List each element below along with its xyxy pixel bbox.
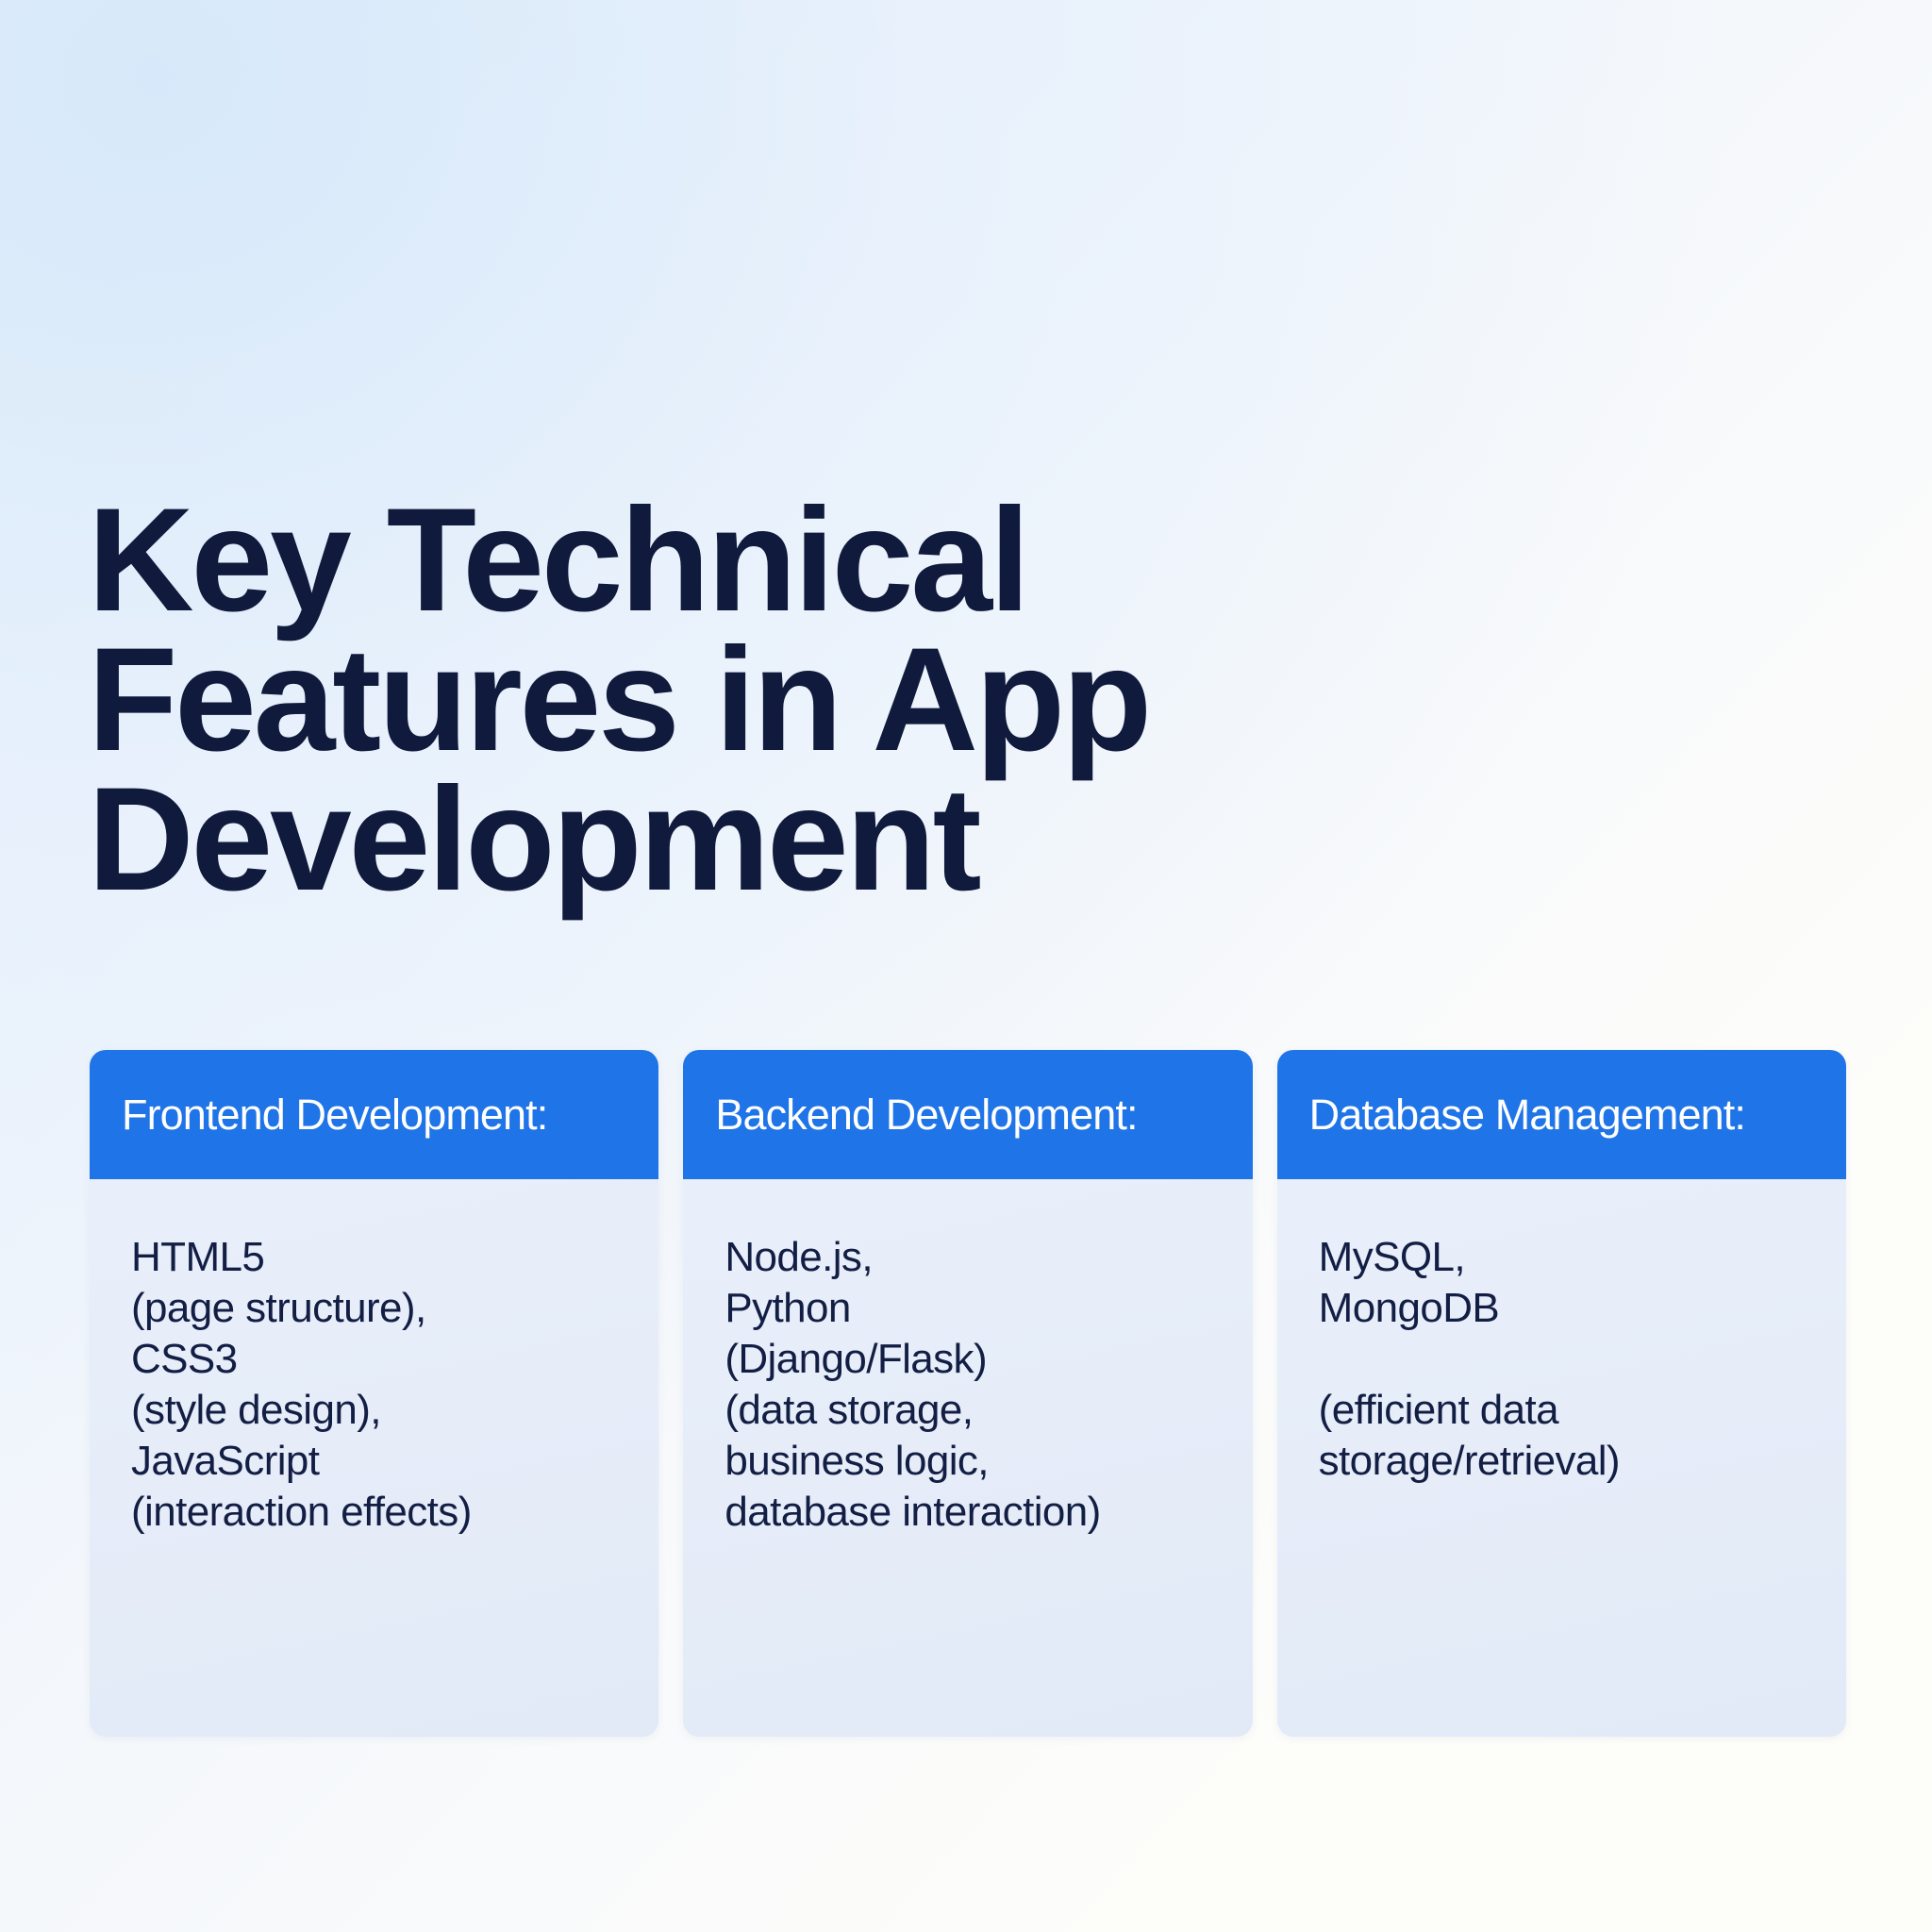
- card-frontend-header: Frontend Development:: [90, 1050, 658, 1179]
- card-database-management: Database Management: MySQL, MongoDB (eff…: [1277, 1050, 1846, 1737]
- card-backend-header: Backend Development:: [683, 1050, 1252, 1179]
- slide-canvas: Key Technical Features in App Developmen…: [0, 0, 1932, 1932]
- card-backend-header-label: Backend Development:: [715, 1091, 1137, 1139]
- card-frontend-line-5: JavaScript: [131, 1436, 634, 1487]
- card-backend-line-3: (Django/Flask): [724, 1334, 1227, 1385]
- page-title-line-1: Key Technical: [88, 491, 1314, 630]
- card-database-line-3: [1319, 1334, 1822, 1385]
- page-title: Key Technical Features in App Developmen…: [88, 491, 1314, 909]
- card-frontend-line-3: CSS3: [131, 1334, 634, 1385]
- card-backend-body: Node.js, Python (Django/Flask) (data sto…: [683, 1179, 1252, 1737]
- card-backend-development: Backend Development: Node.js, Python (Dj…: [683, 1050, 1252, 1737]
- card-backend-line-2: Python: [724, 1283, 1227, 1334]
- card-database-line-5: storage/retrieval): [1319, 1436, 1822, 1487]
- card-frontend-line-6: (interaction effects): [131, 1487, 634, 1538]
- card-backend-line-4: (data storage,: [724, 1385, 1227, 1436]
- card-frontend-development: Frontend Development: HTML5 (page struct…: [90, 1050, 658, 1737]
- card-database-line-2: MongoDB: [1319, 1283, 1822, 1334]
- card-frontend-body: HTML5 (page structure), CSS3 (style desi…: [90, 1179, 658, 1737]
- card-backend-line-5: business logic,: [724, 1436, 1227, 1487]
- card-database-line-4: (efficient data: [1319, 1385, 1822, 1436]
- feature-card-row: Frontend Development: HTML5 (page struct…: [90, 1050, 1846, 1737]
- card-frontend-line-1: HTML5: [131, 1232, 634, 1283]
- card-frontend-line-4: (style design),: [131, 1385, 634, 1436]
- card-database-line-1: MySQL,: [1319, 1232, 1822, 1283]
- page-title-line-2: Features in App: [88, 630, 1314, 770]
- page-title-line-3: Development: [88, 770, 1314, 909]
- card-frontend-line-2: (page structure),: [131, 1283, 634, 1334]
- card-database-header-label: Database Management:: [1309, 1091, 1745, 1139]
- card-database-header: Database Management:: [1277, 1050, 1846, 1179]
- card-backend-line-1: Node.js,: [724, 1232, 1227, 1283]
- card-frontend-header-label: Frontend Development:: [122, 1091, 547, 1139]
- card-backend-line-6: database interaction): [724, 1487, 1227, 1538]
- card-database-body: MySQL, MongoDB (efficient data storage/r…: [1277, 1179, 1846, 1737]
